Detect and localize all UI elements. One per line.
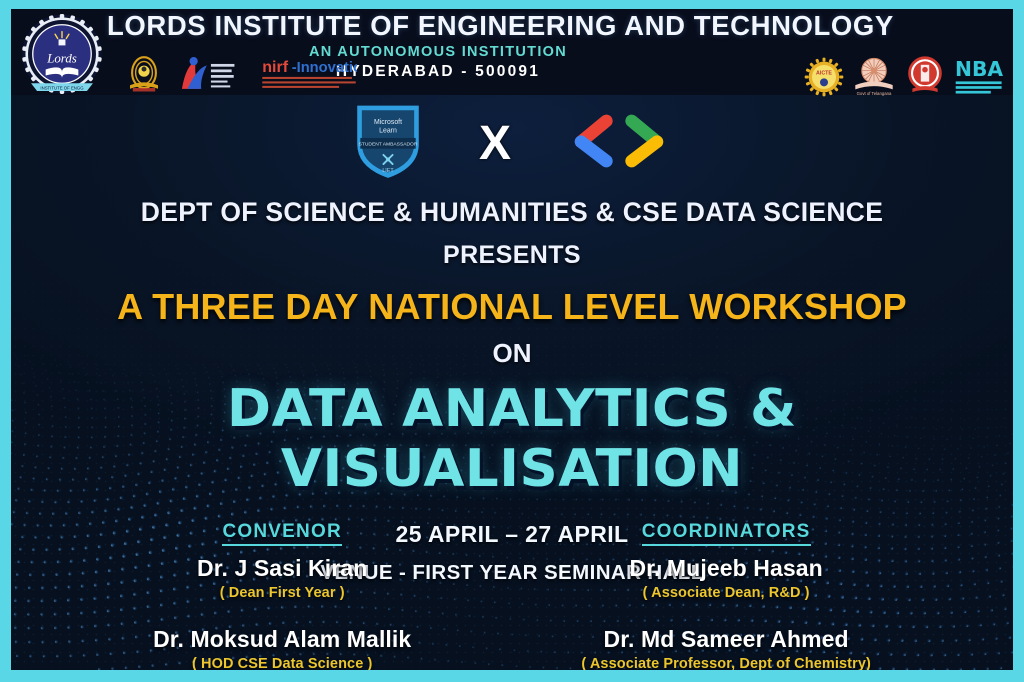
presents-line: PRESENTS <box>11 241 1013 270</box>
poster-header: Lords INSTITUTE OF ENGG LORDS INSTITUTE … <box>11 9 1013 95</box>
poster-canvas: Lords INSTITUTE OF ENGG LORDS INSTITUTE … <box>11 9 1013 670</box>
department-line: DEPT OF SCIENCE & HUMANITIES & CSE DATA … <box>11 197 1013 228</box>
accreditation-logos: AICTE <box>804 53 1007 102</box>
convenor-designation-2: ( HOD CSE Data Science ) <box>153 656 411 670</box>
microsoft-learn-student-ambassador-badge: Microsoft Learn STUDENT AMBASSADOR LIET <box>349 101 427 186</box>
page-title: DATA ANALYTICS & VISUALISATION <box>11 379 1013 499</box>
osmania-university-logo <box>904 55 946 102</box>
coordinator-designation-1: ( Associate Dean, R&D ) <box>581 585 871 601</box>
ms-learn-ribbon: STUDENT AMBASSADOR <box>359 142 418 148</box>
svg-text:nirf: nirf <box>262 59 288 76</box>
ms-learn-line2: Learn <box>379 128 397 135</box>
ugc-emblem-logo <box>123 53 165 100</box>
convenor-name-1: Dr. J Sasi Kiran <box>153 555 411 582</box>
affiliation-logos: nirf -Innovation <box>123 53 357 100</box>
aicte-logo: AICTE <box>804 57 844 102</box>
collaboration-separator: X <box>479 120 511 168</box>
ms-learn-footer: LIET <box>382 168 394 174</box>
nirf-innovation-logo: nirf -Innovation <box>261 55 357 100</box>
svg-text:Lords: Lords <box>46 52 77 66</box>
svg-text:-Innovation: -Innovation <box>292 60 357 76</box>
convenor-column: CONVENOR Dr. J Sasi Kiran ( Dean First Y… <box>153 521 411 670</box>
workshop-headline: A THREE DAY NATIONAL LEVEL WORKSHOP <box>11 286 1013 328</box>
ms-learn-line1: Microsoft <box>374 119 402 126</box>
convenor-role-label: CONVENOR <box>222 521 341 546</box>
coordinators-role-label: COORDINATORS <box>642 521 811 546</box>
institute-name: LORDS INSTITUTE OF ENGINEERING AND TECHN… <box>107 11 769 41</box>
workshop-poster: Lords INSTITUTE OF ENGG LORDS INSTITUTE … <box>0 0 1024 682</box>
svg-text:Govt of Telangana: Govt of Telangana <box>857 91 892 96</box>
convenor-designation-1: ( Dean First Year ) <box>153 585 411 601</box>
svg-text:NBA: NBA <box>955 57 1003 81</box>
govt-of-telangana-emblem-logo: Govt of Telangana <box>851 53 897 102</box>
organisers-section: CONVENOR Dr. J Sasi Kiran ( Dean First Y… <box>11 521 1013 670</box>
collaboration-band: Microsoft Learn STUDENT AMBASSADOR LIET … <box>11 101 1013 186</box>
coordinators-column: COORDINATORS Dr. Mujeeb Hasan ( Associat… <box>581 521 871 670</box>
nba-accreditation-logo: NBA <box>953 55 1007 102</box>
convenor-name-2: Dr. Moksud Alam Mallik <box>153 626 411 653</box>
lords-institute-crest-logo: Lords INSTITUTE OF ENGG <box>19 11 105 97</box>
naac-accreditation-logo <box>175 55 251 100</box>
coordinator-designation-2: ( Associate Professor, Dept of Chemistry… <box>581 656 871 670</box>
coordinator-name-1: Dr. Mujeeb Hasan <box>581 555 871 582</box>
on-line: ON <box>11 338 1013 369</box>
google-developer-groups-logo <box>563 112 675 175</box>
svg-text:AICTE: AICTE <box>816 70 832 76</box>
svg-text:INSTITUTE OF ENGG: INSTITUTE OF ENGG <box>40 85 84 90</box>
coordinator-name-2: Dr. Md Sameer Ahmed <box>581 626 871 653</box>
